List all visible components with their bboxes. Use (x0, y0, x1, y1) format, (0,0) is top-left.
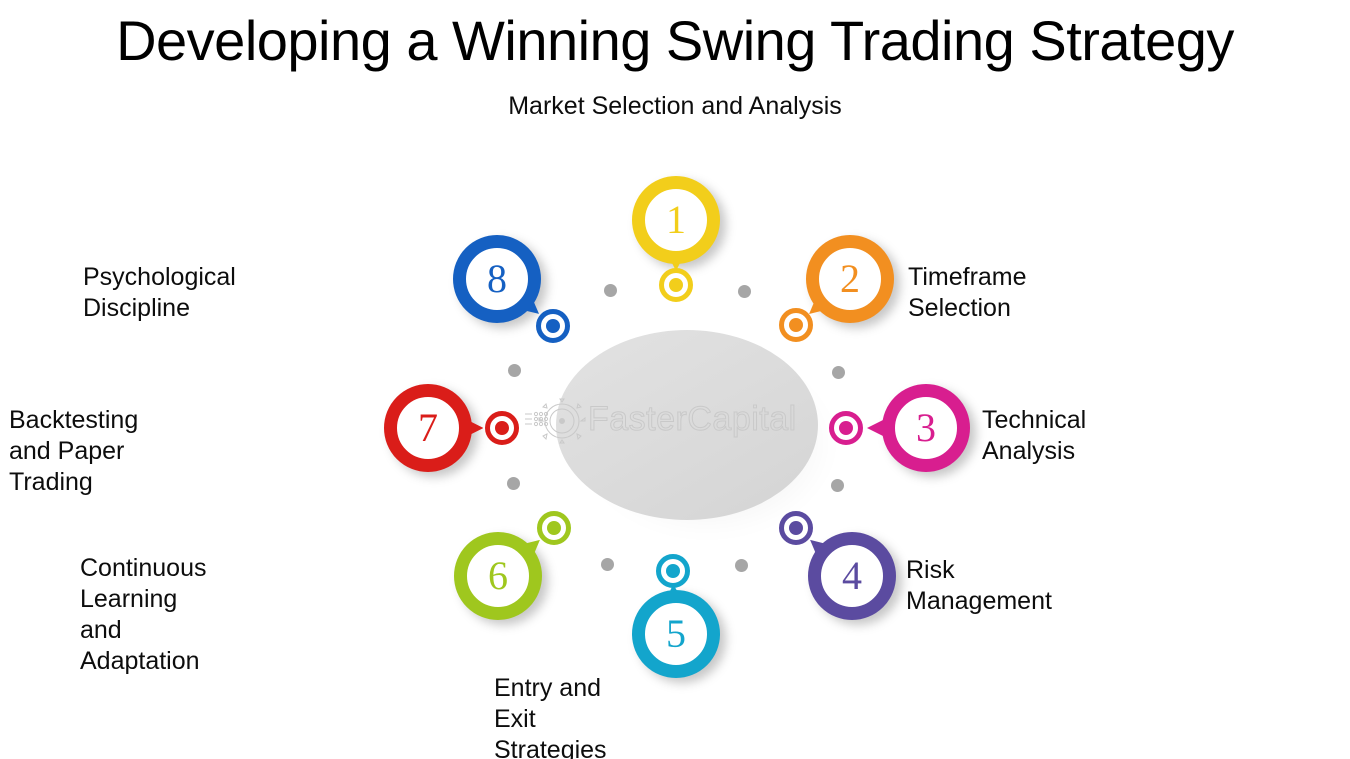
step-number-5: 5 (666, 614, 686, 654)
step-label-8: Psychological Discipline (83, 262, 236, 324)
ring-dot (604, 284, 617, 297)
step-bubble-1[interactable]: 1 (632, 176, 720, 264)
step-marker-3[interactable] (829, 411, 863, 445)
step-bubble-3[interactable]: 3 (882, 384, 970, 472)
step-label-4: Risk Management (906, 555, 1052, 617)
step-marker-2[interactable] (779, 308, 813, 342)
step-number-7: 7 (418, 408, 438, 448)
ring-dot (601, 558, 614, 571)
step-bubble-7[interactable]: 7 (384, 384, 472, 472)
step-marker-5[interactable] (656, 554, 690, 588)
ring-dot (832, 366, 845, 379)
step-marker-core (547, 521, 561, 535)
step-number-3: 3 (916, 408, 936, 448)
step-number-6: 6 (488, 556, 508, 596)
step-number-2: 2 (840, 259, 860, 299)
step-marker-8[interactable] (536, 309, 570, 343)
step-label-2: Timeframe Selection (908, 262, 1027, 324)
ring-dot (831, 479, 844, 492)
step-number-1: 1 (666, 200, 686, 240)
center-ellipse (556, 330, 818, 520)
step-marker-core (546, 319, 560, 333)
step-marker-core (669, 278, 683, 292)
ring-dot (507, 477, 520, 490)
step-marker-core (839, 421, 853, 435)
step-marker-core (666, 564, 680, 578)
ring-dot (738, 285, 751, 298)
step-marker-core (495, 421, 509, 435)
step-number-4: 4 (842, 556, 862, 596)
step-marker-core (789, 318, 803, 332)
step-label-5: Entry and Exit Strategies (494, 673, 607, 759)
infographic-canvas: Developing a Winning Swing Trading Strat… (0, 0, 1350, 759)
step-marker-6[interactable] (537, 511, 571, 545)
step-marker-4[interactable] (779, 511, 813, 545)
ring-dot (735, 559, 748, 572)
step-number-8: 8 (487, 259, 507, 299)
step-bubble-8[interactable]: 8 (453, 235, 541, 323)
step-label-3: Technical Analysis (982, 405, 1086, 467)
step-bubble-2[interactable]: 2 (806, 235, 894, 323)
step-label-7: Backtesting and Paper Trading (9, 405, 138, 498)
step-marker-core (789, 521, 803, 535)
step-marker-1[interactable] (659, 268, 693, 302)
step-bubble-5[interactable]: 5 (632, 590, 720, 678)
page-subtitle: Market Selection and Analysis (0, 92, 1350, 121)
page-title: Developing a Winning Swing Trading Strat… (0, 8, 1350, 73)
step-bubble-4[interactable]: 4 (808, 532, 896, 620)
ring-dot (508, 364, 521, 377)
step-label-6: Continuous Learning and Adaptation (80, 553, 206, 677)
step-bubble-6[interactable]: 6 (454, 532, 542, 620)
step-marker-7[interactable] (485, 411, 519, 445)
